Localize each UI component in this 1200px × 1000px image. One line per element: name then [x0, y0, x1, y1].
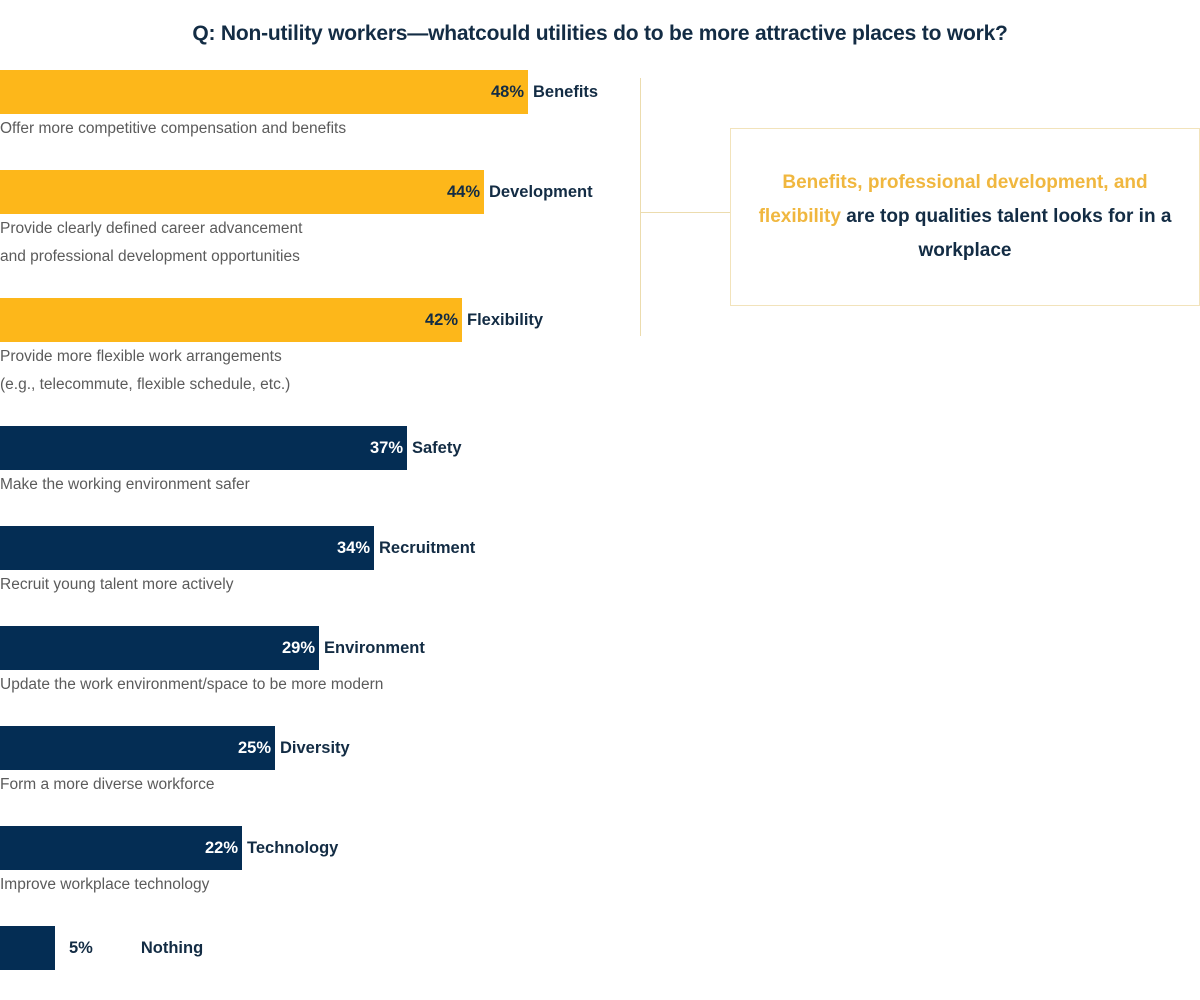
bar-label: Technology [242, 839, 338, 858]
bar-row[interactable]: 44%Development [0, 170, 640, 214]
bar-row[interactable]: 22%Technology [0, 826, 640, 870]
bar-description: Improve workplace technology [0, 870, 640, 898]
bar-row[interactable]: 37%Safety [0, 426, 640, 470]
bar-row[interactable]: 25%Diversity [0, 726, 640, 770]
bar-value: 37% [370, 439, 407, 458]
callout-rest-text: are top qualities talent looks for in a … [841, 206, 1171, 261]
bar-group: 37%SafetyMake the working environment sa… [0, 426, 640, 498]
bar-value: 22% [205, 839, 242, 858]
bar-description: Form a more diverse workforce [0, 770, 640, 798]
bar-group: 44%DevelopmentProvide clearly defined ca… [0, 170, 640, 270]
bar-row[interactable]: 34%Recruitment [0, 526, 640, 570]
bar-group-spacer [0, 598, 640, 626]
bar-benefits[interactable]: 48% [0, 70, 528, 114]
bar-value: 34% [337, 539, 374, 558]
bar-description: Make the working environment safer [0, 470, 640, 498]
bar-description: and professional development opportuniti… [0, 242, 640, 270]
bar-group-spacer [0, 142, 640, 170]
bar-label: Recruitment [374, 539, 475, 558]
bar-label: Development [484, 183, 593, 202]
bar-flexibility[interactable]: 42% [0, 298, 462, 342]
bar-group: 25%DiversityForm a more diverse workforc… [0, 726, 640, 798]
bar-row[interactable]: 42%Flexibility [0, 298, 640, 342]
bar-environment[interactable]: 29% [0, 626, 319, 670]
bar-group: 5%Nothing [0, 926, 640, 970]
bar-value: 5% [55, 939, 93, 958]
bar-label: Nothing [93, 939, 203, 958]
bar-group-spacer [0, 498, 640, 526]
callout-text: Benefits, professional development, and … [753, 166, 1177, 268]
callout-connector-vertical [640, 78, 641, 336]
bar-group-spacer [0, 270, 640, 298]
bar-row[interactable]: 29%Environment [0, 626, 640, 670]
bar-description: Update the work environment/space to be … [0, 670, 640, 698]
bar-group-spacer [0, 398, 640, 426]
bar-label: Safety [407, 439, 462, 458]
bar-chart: 48%BenefitsOffer more competitive compen… [0, 70, 640, 970]
bar-value: 42% [425, 311, 462, 330]
bar-row[interactable]: 48%Benefits [0, 70, 640, 114]
callout-connector-horizontal [641, 212, 731, 213]
bar-value: 25% [238, 739, 275, 758]
bar-label: Environment [319, 639, 425, 658]
bar-group: 34%RecruitmentRecruit young talent more … [0, 526, 640, 598]
bar-group-spacer [0, 798, 640, 826]
bar-row[interactable]: 5%Nothing [0, 926, 640, 970]
bar-development[interactable]: 44% [0, 170, 484, 214]
bar-description: Offer more competitive compensation and … [0, 114, 640, 142]
bar-group: 29%EnvironmentUpdate the work environmen… [0, 626, 640, 698]
bar-label: Benefits [528, 83, 598, 102]
bar-safety[interactable]: 37% [0, 426, 407, 470]
bar-group-spacer [0, 898, 640, 926]
bar-diversity[interactable]: 25% [0, 726, 275, 770]
bar-label: Flexibility [462, 311, 543, 330]
bar-technology[interactable]: 22% [0, 826, 242, 870]
page-title: Q: Non-utility workers—whatcould utiliti… [0, 22, 1200, 46]
bar-value: 29% [282, 639, 319, 658]
bar-label: Diversity [275, 739, 350, 758]
bar-value: 48% [491, 83, 528, 102]
bar-description: Provide clearly defined career advanceme… [0, 214, 640, 242]
bar-group: 42%FlexibilityProvide more flexible work… [0, 298, 640, 398]
bar-recruitment[interactable]: 34% [0, 526, 374, 570]
bar-group: 48%BenefitsOffer more competitive compen… [0, 70, 640, 142]
bar-description: Recruit young talent more actively [0, 570, 640, 598]
bar-group-spacer [0, 698, 640, 726]
bar-group: 22%TechnologyImprove workplace technolog… [0, 826, 640, 898]
bar-nothing[interactable] [0, 926, 55, 970]
bar-value: 44% [447, 183, 484, 202]
bar-description: Provide more flexible work arrangements [0, 342, 640, 370]
callout-box: Benefits, professional development, and … [730, 128, 1200, 306]
bar-description: (e.g., telecommute, flexible schedule, e… [0, 370, 640, 398]
